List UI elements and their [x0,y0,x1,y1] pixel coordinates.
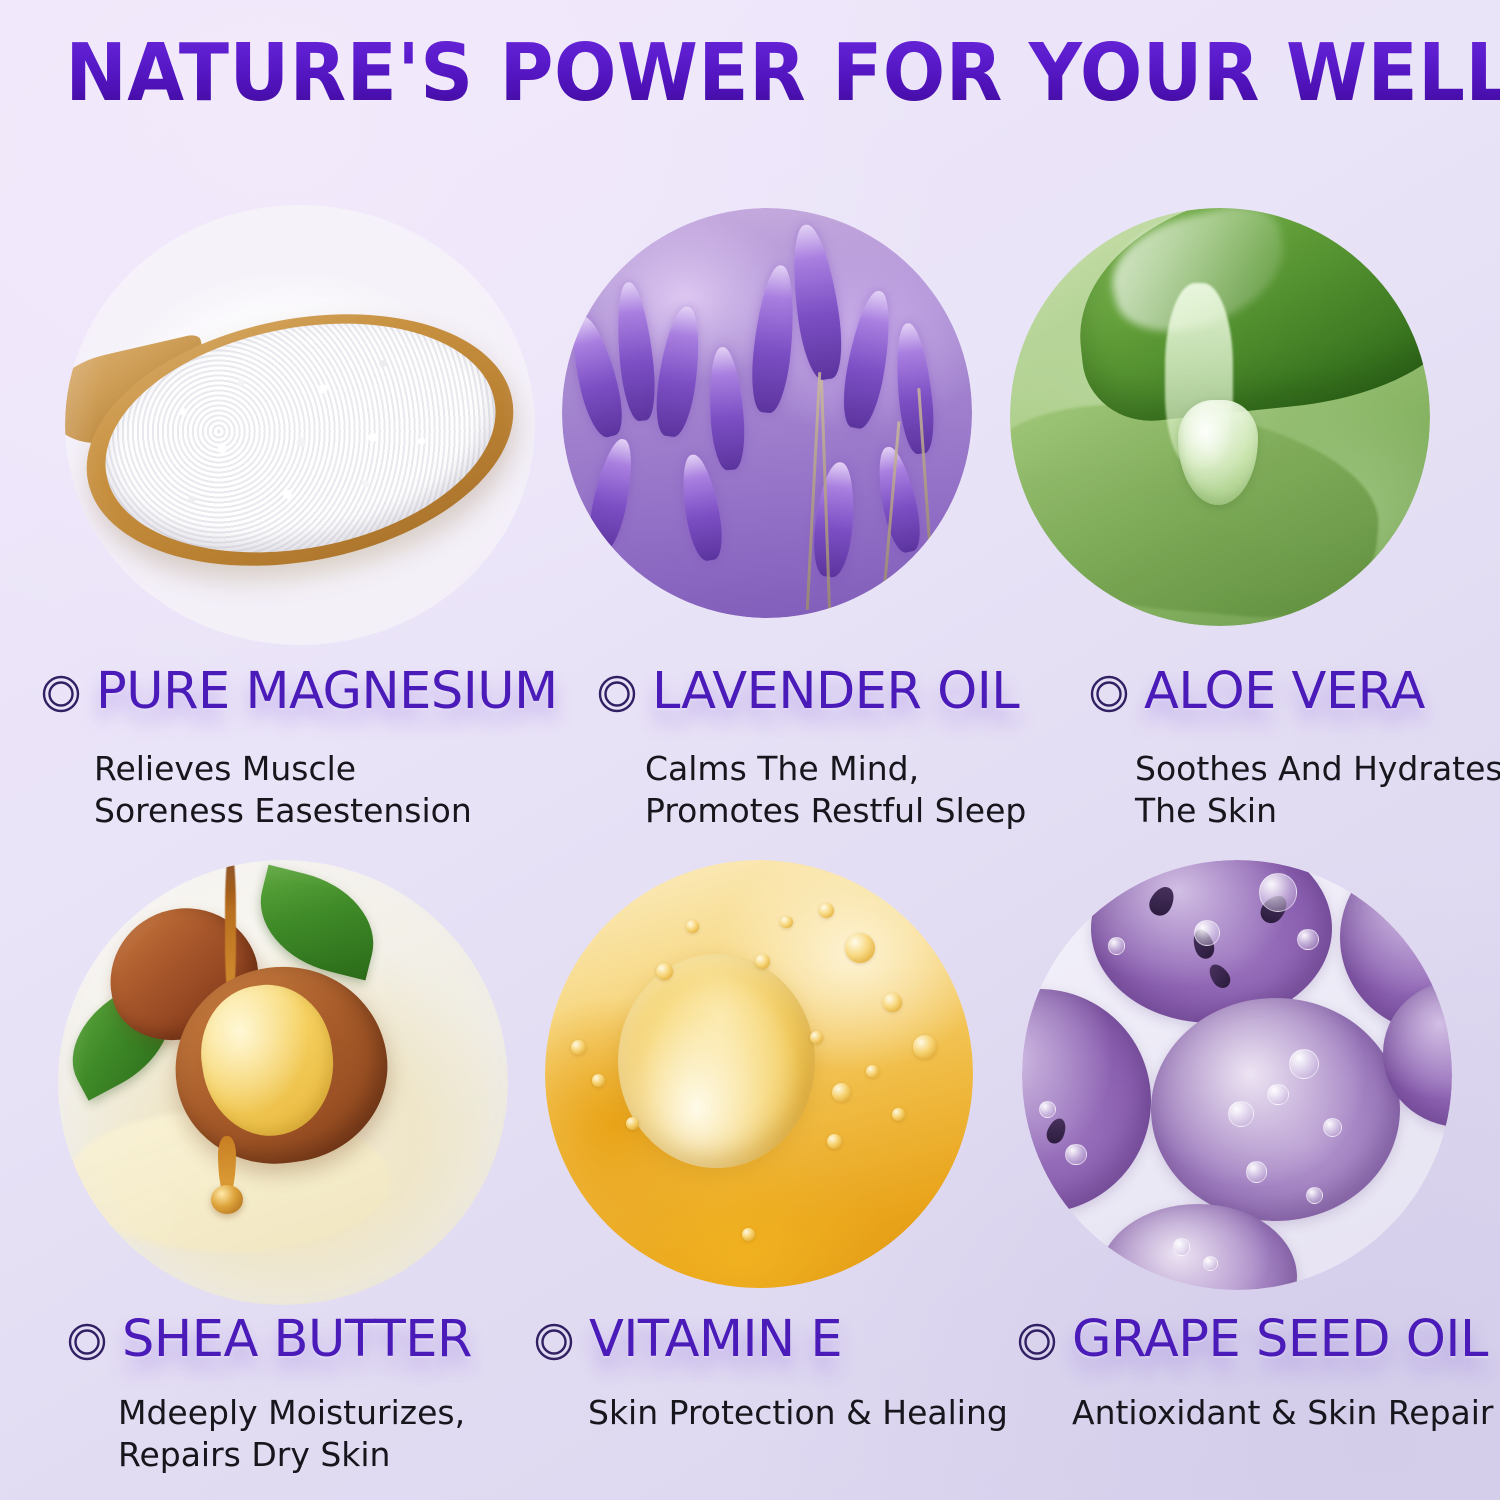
double-circle-icon [535,1323,573,1361]
double-circle-icon [598,675,636,713]
ingredient-name: ALOE VERA [1144,662,1425,721]
double-circle-icon [1090,675,1128,713]
ingredient-description-pure-magnesium: Relieves Muscle Soreness Easestension [94,748,564,832]
ingredient-image-aloe-vera [1010,208,1430,626]
grape-cell [1022,989,1151,1213]
lavender-spikes [562,208,972,618]
page-title: NATURE'S POWER FOR YOUR WELL-BEING [65,34,1500,113]
ingredient-name: SHEA BUTTER [122,1310,472,1369]
ingredient-name: PURE MAGNESIUM [96,662,558,721]
ingredient-image-vitamin-e [545,860,973,1288]
ingredient-description-grape-seed-oil: Antioxidant & Skin Repair [1072,1392,1500,1434]
double-circle-icon [1018,1323,1056,1361]
page-title-container: NATURE'S POWER FOR YOUR WELL-BEING [0,34,1500,113]
ingredient-label-shea-butter: SHEA BUTTER [68,1310,472,1369]
ingredient-image-shea-butter [58,860,508,1305]
ingredient-description-aloe-vera: Soothes And Hydrates The Skin [1135,748,1500,832]
ingredient-name: GRAPE SEED OIL [1072,1310,1488,1369]
double-circle-icon [42,675,80,713]
green-leaf [247,864,386,980]
double-circle-icon [68,1323,106,1361]
ingredient-label-grape-seed-oil: GRAPE SEED OIL [1018,1310,1488,1369]
ingredient-image-grape-seed-oil [1022,860,1452,1290]
ingredient-label-lavender-oil: LAVENDER OIL [598,662,1019,721]
ingredient-name: VITAMIN E [589,1310,842,1369]
grape-cell [1151,998,1400,1222]
ingredient-label-aloe-vera: ALOE VERA [1090,662,1425,721]
ingredient-label-pure-magnesium: PURE MAGNESIUM [42,662,558,721]
ingredient-image-pure-magnesium [65,205,535,645]
ingredient-description-lavender-oil: Calms The Mind, Promotes Restful Sleep [645,748,1075,832]
ingredient-description-shea-butter: Mdeeply Moisturizes, Repairs Dry Skin [118,1392,558,1476]
infographic-page: NATURE'S POWER FOR YOUR WELL-BEING PURE … [0,0,1500,1500]
ingredient-image-lavender-oil [562,208,972,618]
ingredient-label-vitamin-e: VITAMIN E [535,1310,842,1369]
ingredient-description-vitamin-e: Skin Protection & Healing [588,1392,1038,1434]
ingredient-grid: PURE MAGNESIUM Relieves Muscle Soreness … [0,170,1500,1500]
oil-bead [211,1185,243,1214]
large-oil-droplet [618,954,815,1168]
ingredient-name: LAVENDER OIL [652,662,1019,721]
